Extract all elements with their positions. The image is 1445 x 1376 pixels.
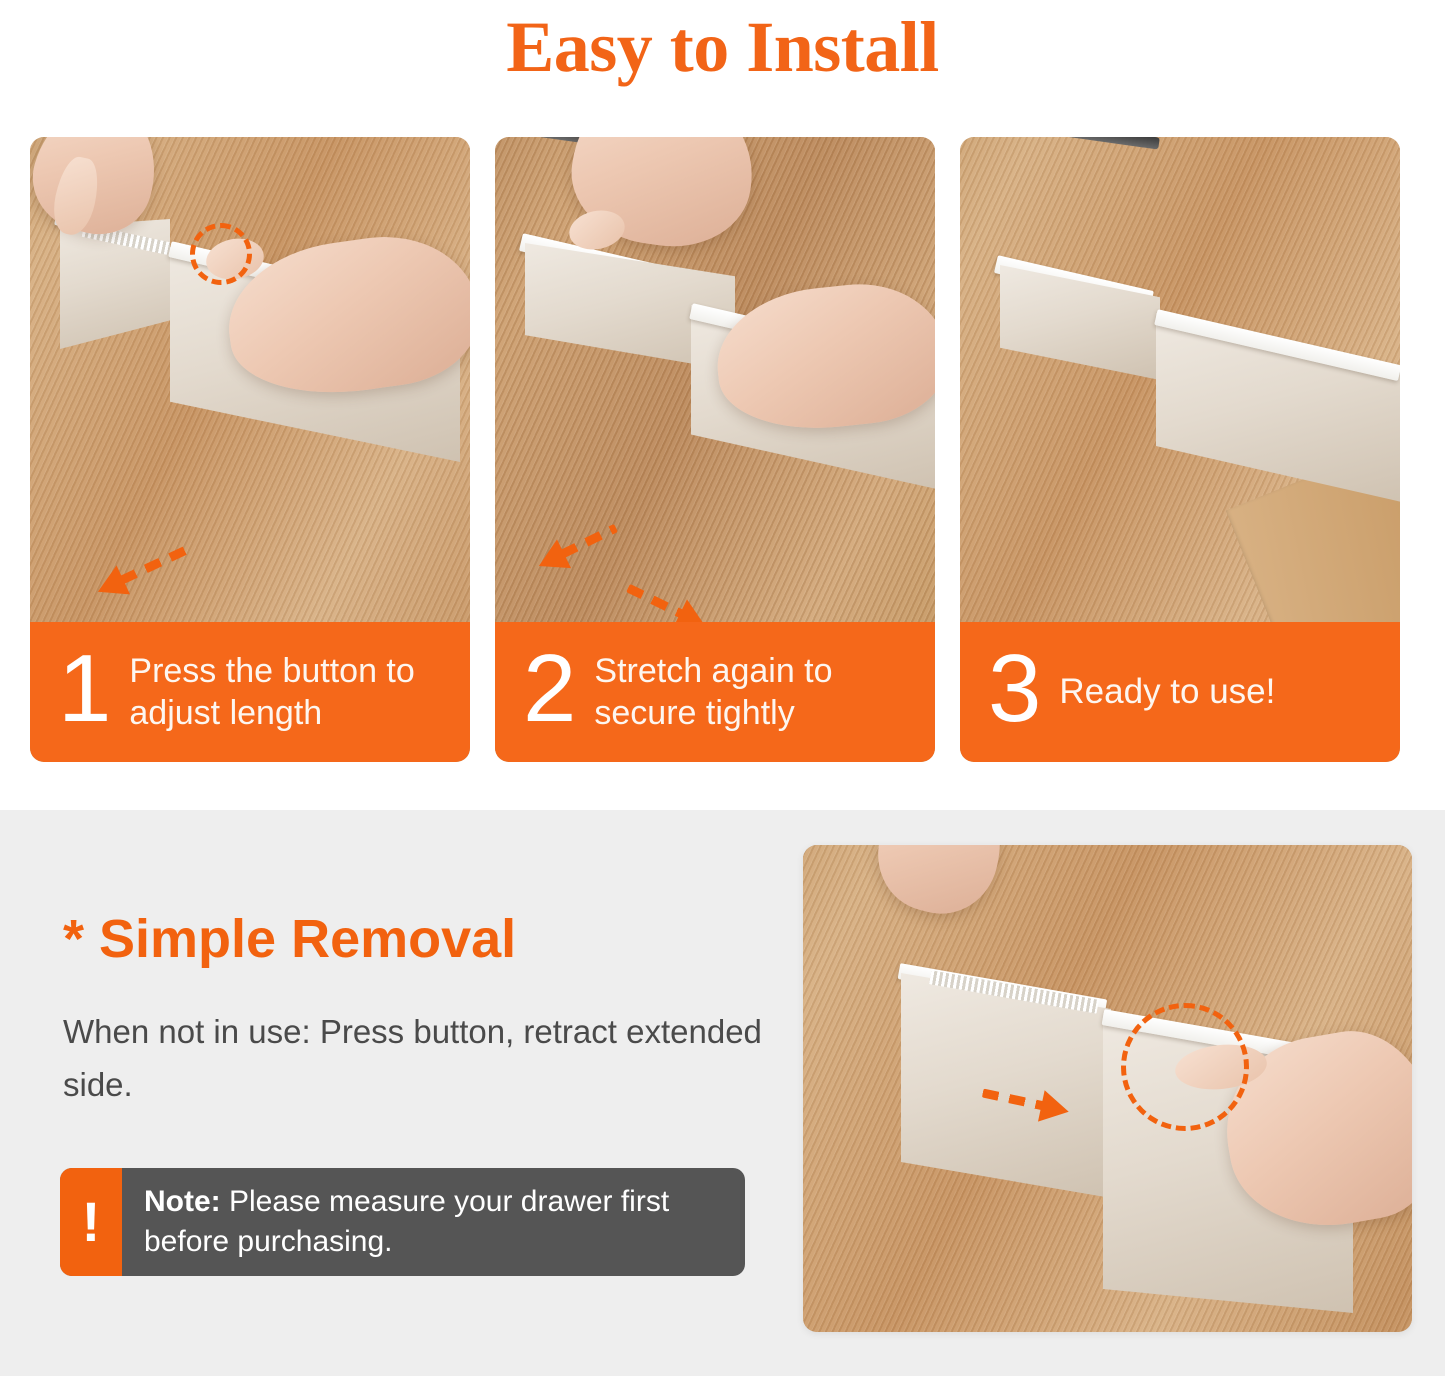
step-card-2: 2 Stretch again to secure tightly — [495, 137, 935, 762]
simple-removal-section: * Simple Removal When not in use: Press … — [0, 810, 1445, 1376]
install-steps-section: Easy to Install — [0, 0, 1445, 810]
steps-row: 1 Press the button to adjust length — [30, 137, 1415, 762]
exclamation-icon: ! — [60, 1168, 122, 1276]
step-3-number: 3 — [988, 641, 1041, 737]
step-2-text: Stretch again to secure tightly — [594, 650, 921, 734]
step-3-caption: 3 Ready to use! — [960, 622, 1400, 762]
button-highlight-circle — [1121, 1003, 1249, 1131]
note-body: Please measure your drawer first before … — [144, 1185, 669, 1258]
removal-heading: * Simple Removal — [63, 908, 516, 970]
step-card-3: 3 Ready to use! — [960, 137, 1400, 762]
note-label: Note: — [144, 1185, 221, 1218]
step-card-1: 1 Press the button to adjust length — [30, 137, 470, 762]
removal-photo — [803, 845, 1412, 1332]
step-1-number: 1 — [58, 641, 111, 737]
step-2-caption: 2 Stretch again to secure tightly — [495, 622, 935, 762]
button-highlight-circle — [190, 223, 252, 285]
removal-description: When not in use: Press button, retract e… — [63, 1005, 763, 1111]
step-3-text: Ready to use! — [1059, 671, 1275, 713]
step-1-text: Press the button to adjust length — [129, 650, 456, 734]
step-1-caption: 1 Press the button to adjust length — [30, 622, 470, 762]
step-2-number: 2 — [523, 641, 576, 737]
note-box: ! Note: Please measure your drawer first… — [60, 1168, 745, 1276]
note-text: Note: Please measure your drawer first b… — [122, 1168, 745, 1276]
page-title: Easy to Install — [0, 4, 1445, 90]
